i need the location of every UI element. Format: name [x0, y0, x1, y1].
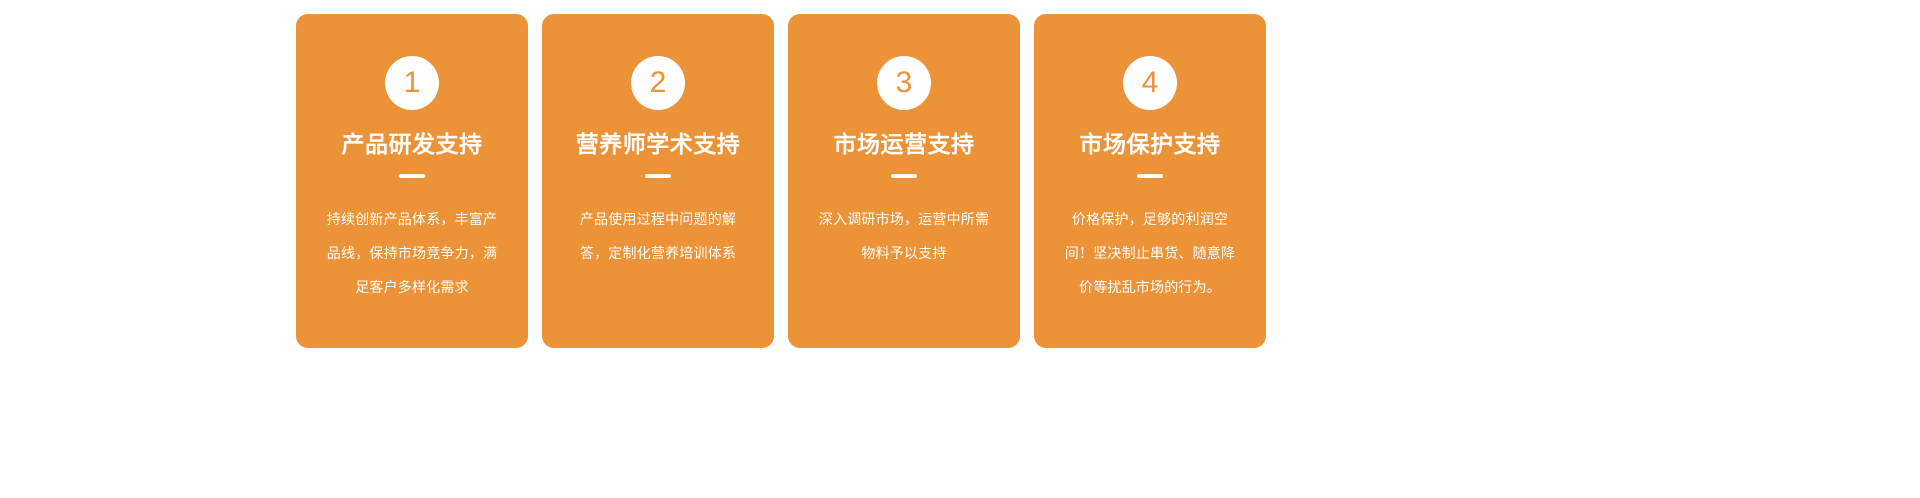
- title-divider: [645, 174, 671, 178]
- card-number: 3: [896, 68, 913, 98]
- support-features-section: 1 产品研发支持 持续创新产品体系，丰富产品线，保持市场竞争力，满足客户多样化需…: [0, 0, 1920, 498]
- title-divider: [1137, 174, 1163, 178]
- card-title: 产品研发支持: [342, 132, 483, 157]
- card-body-text: 持续创新产品体系，丰富产品线，保持市场竞争力，满足客户多样化需求: [324, 202, 500, 304]
- card-number: 4: [1142, 68, 1159, 98]
- title-divider: [891, 174, 917, 178]
- card-body-text: 深入调研市场，运营中所需物料予以支持: [816, 202, 992, 270]
- number-badge-icon: 1: [385, 56, 439, 110]
- number-badge-icon: 2: [631, 56, 685, 110]
- support-card-1[interactable]: 1 产品研发支持 持续创新产品体系，丰富产品线，保持市场竞争力，满足客户多样化需…: [296, 14, 528, 348]
- support-card-3[interactable]: 3 市场运营支持 深入调研市场，运营中所需物料予以支持: [788, 14, 1020, 348]
- card-number: 2: [650, 68, 667, 98]
- card-title: 市场运营支持: [834, 132, 975, 157]
- support-cards-row: 1 产品研发支持 持续创新产品体系，丰富产品线，保持市场竞争力，满足客户多样化需…: [296, 14, 1266, 348]
- number-badge-icon: 4: [1123, 56, 1177, 110]
- card-body-text: 价格保护，足够的利润空间！坚决制止串货、随意降价等扰乱市场的行为。: [1062, 202, 1238, 304]
- card-title: 市场保护支持: [1080, 132, 1221, 157]
- number-badge-icon: 3: [877, 56, 931, 110]
- title-divider: [399, 174, 425, 178]
- card-title: 营养师学术支持: [576, 132, 741, 157]
- support-card-2[interactable]: 2 营养师学术支持 产品使用过程中问题的解答，定制化营养培训体系: [542, 14, 774, 348]
- card-number: 1: [404, 68, 421, 98]
- support-card-4[interactable]: 4 市场保护支持 价格保护，足够的利润空间！坚决制止串货、随意降价等扰乱市场的行…: [1034, 14, 1266, 348]
- card-body-text: 产品使用过程中问题的解答，定制化营养培训体系: [570, 202, 746, 270]
